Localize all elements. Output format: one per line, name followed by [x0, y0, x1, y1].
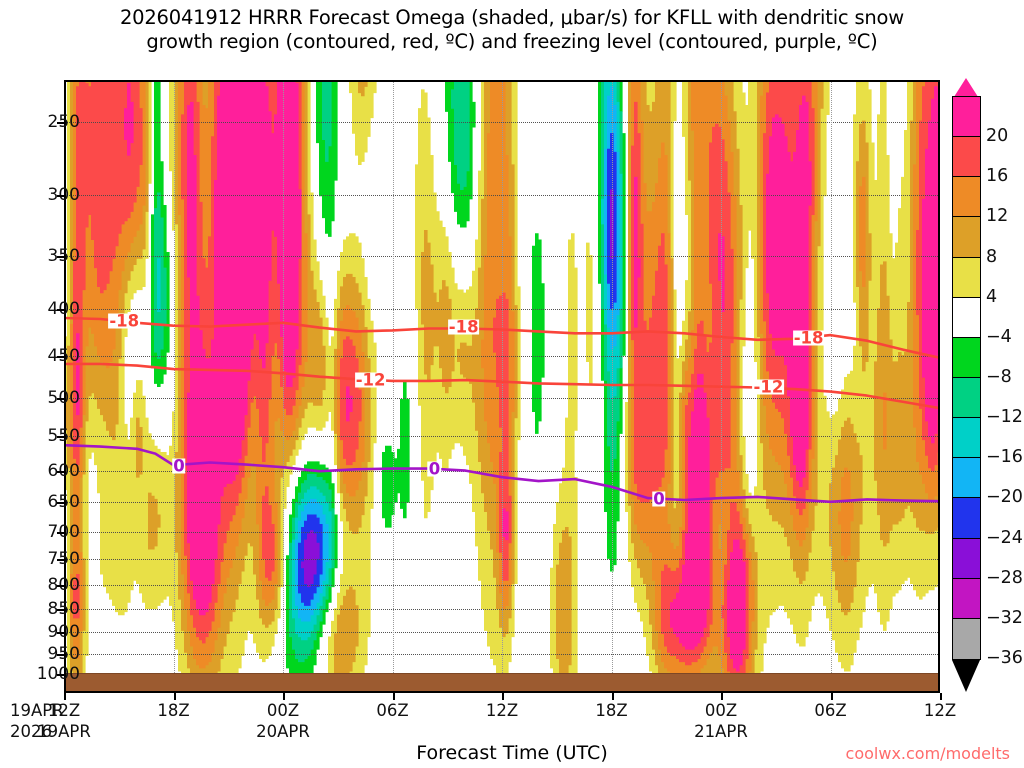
- contour-label-freezing-level: 0: [172, 458, 185, 473]
- x-tick-12Z-4: 12Z: [486, 701, 518, 720]
- watermark[interactable]: coolwx.com/modelts: [846, 744, 1010, 763]
- contour-label-dendritic-snow-growth-upper: -18: [108, 313, 140, 328]
- colorbar-segment-12: [953, 579, 980, 619]
- x-tick-date-21APR: 21APR: [694, 722, 748, 741]
- colorbar-segment-5: [953, 298, 980, 338]
- y-tickmark-550: [57, 436, 65, 438]
- x-tickmark-5: [612, 693, 614, 700]
- x-tick-06Z-7: 06Z: [814, 701, 846, 720]
- colorbar-label--28: −28: [986, 568, 1023, 588]
- colorbar-segment-6: [953, 338, 980, 378]
- colorbar-label-16: 16: [986, 166, 1008, 186]
- colorbar: [952, 96, 981, 660]
- y-tickmark-500: [57, 398, 65, 400]
- chart-title: 2026041912 HRRR Forecast Omega (shaded, …: [0, 6, 1024, 54]
- y-tickmark-800: [57, 585, 65, 587]
- colorbar-label--8: −8: [986, 367, 1012, 387]
- x-tickmark-7: [831, 693, 833, 700]
- chart-title-line1: 2026041912 HRRR Forecast Omega (shaded, …: [120, 6, 904, 29]
- colorbar-segment-11: [953, 539, 980, 579]
- start-date-label: 19APR 2026: [10, 700, 64, 742]
- y-tickmark-600: [57, 471, 65, 473]
- x-tickmark-3: [393, 693, 395, 700]
- x-tick-12Z-8: 12Z: [924, 701, 956, 720]
- ground-surface-band: [64, 673, 940, 693]
- contour-label-dendritic-snow-growth-lower: -12: [753, 380, 785, 395]
- x-tickmark-6: [721, 693, 723, 700]
- y-tickmark-700: [57, 532, 65, 534]
- colorbar-segment-0: [953, 97, 980, 137]
- colorbar-under-arrow: [952, 660, 980, 692]
- contour-freezing-level: [64, 445, 940, 502]
- colorbar-label-12: 12: [986, 206, 1008, 226]
- colorbar-label--24: −24: [986, 528, 1023, 548]
- colorbar-label--12: −12: [986, 407, 1023, 427]
- y-tickmark-750: [57, 559, 65, 561]
- y-tickmark-850: [57, 609, 65, 611]
- x-tick-00Z-6: 00Z: [705, 701, 737, 720]
- colorbar-segment-8: [953, 418, 980, 458]
- start-date-year: 2026: [10, 721, 64, 742]
- chart-page: { "title": { "line1": "2026041912 HRRR F…: [0, 0, 1024, 768]
- x-tick-18Z-1: 18Z: [157, 701, 189, 720]
- x-tickmark-0: [64, 693, 66, 700]
- x-tick-18Z-5: 18Z: [595, 701, 627, 720]
- colorbar-label--32: −32: [986, 608, 1023, 628]
- colorbar-label-8: 8: [986, 247, 997, 267]
- contour-label-dendritic-snow-growth-upper: -18: [793, 330, 825, 345]
- contour-label-freezing-level: 0: [652, 491, 665, 506]
- contour-label-dendritic-snow-growth-upper: -18: [448, 319, 480, 334]
- y-tickmark-400: [57, 309, 65, 311]
- x-tickmark-2: [283, 693, 285, 700]
- contour-dendritic-snow-growth-lower: [64, 364, 940, 408]
- x-tick-06Z-3: 06Z: [376, 701, 408, 720]
- x-tickmark-1: [174, 693, 176, 700]
- x-tickmark-4: [502, 693, 504, 700]
- colorbar-label--4: −4: [986, 327, 1012, 347]
- x-tick-date-20APR: 20APR: [256, 722, 310, 741]
- colorbar-label--20: −20: [986, 487, 1023, 507]
- colorbar-label-4: 4: [986, 287, 997, 307]
- y-tickmark-250: [57, 122, 65, 124]
- chart-title-line2: growth region (contoured, red, ºC) and f…: [0, 30, 1024, 54]
- colorbar-segment-10: [953, 498, 980, 538]
- y-tickmark-450: [57, 356, 65, 358]
- colorbar-segment-2: [953, 177, 980, 217]
- contour-label-freezing-level: 0: [428, 462, 441, 477]
- colorbar-label-20: 20: [986, 126, 1008, 146]
- start-date-day: 19APR: [10, 700, 64, 721]
- y-tickmark-900: [57, 632, 65, 634]
- colorbar-label--36: −36: [986, 648, 1023, 668]
- contour-label-dendritic-snow-growth-lower: -12: [355, 373, 387, 388]
- y-tickmark-300: [57, 195, 65, 197]
- colorbar-segment-4: [953, 258, 980, 298]
- y-tickmark-1000: [57, 674, 65, 676]
- plot-area[interactable]: [64, 80, 940, 693]
- y-tickmark-950: [57, 654, 65, 656]
- colorbar-label--16: −16: [986, 447, 1023, 467]
- x-tick-00Z-2: 00Z: [267, 701, 299, 720]
- colorbar-segment-9: [953, 458, 980, 498]
- y-tickmark-650: [57, 502, 65, 504]
- colorbar-segment-3: [953, 217, 980, 257]
- colorbar-segment-1: [953, 137, 980, 177]
- y-tickmark-350: [57, 256, 65, 258]
- colorbar-segment-13: [953, 619, 980, 659]
- colorbar-segment-7: [953, 378, 980, 418]
- x-tickmark-8: [940, 693, 942, 700]
